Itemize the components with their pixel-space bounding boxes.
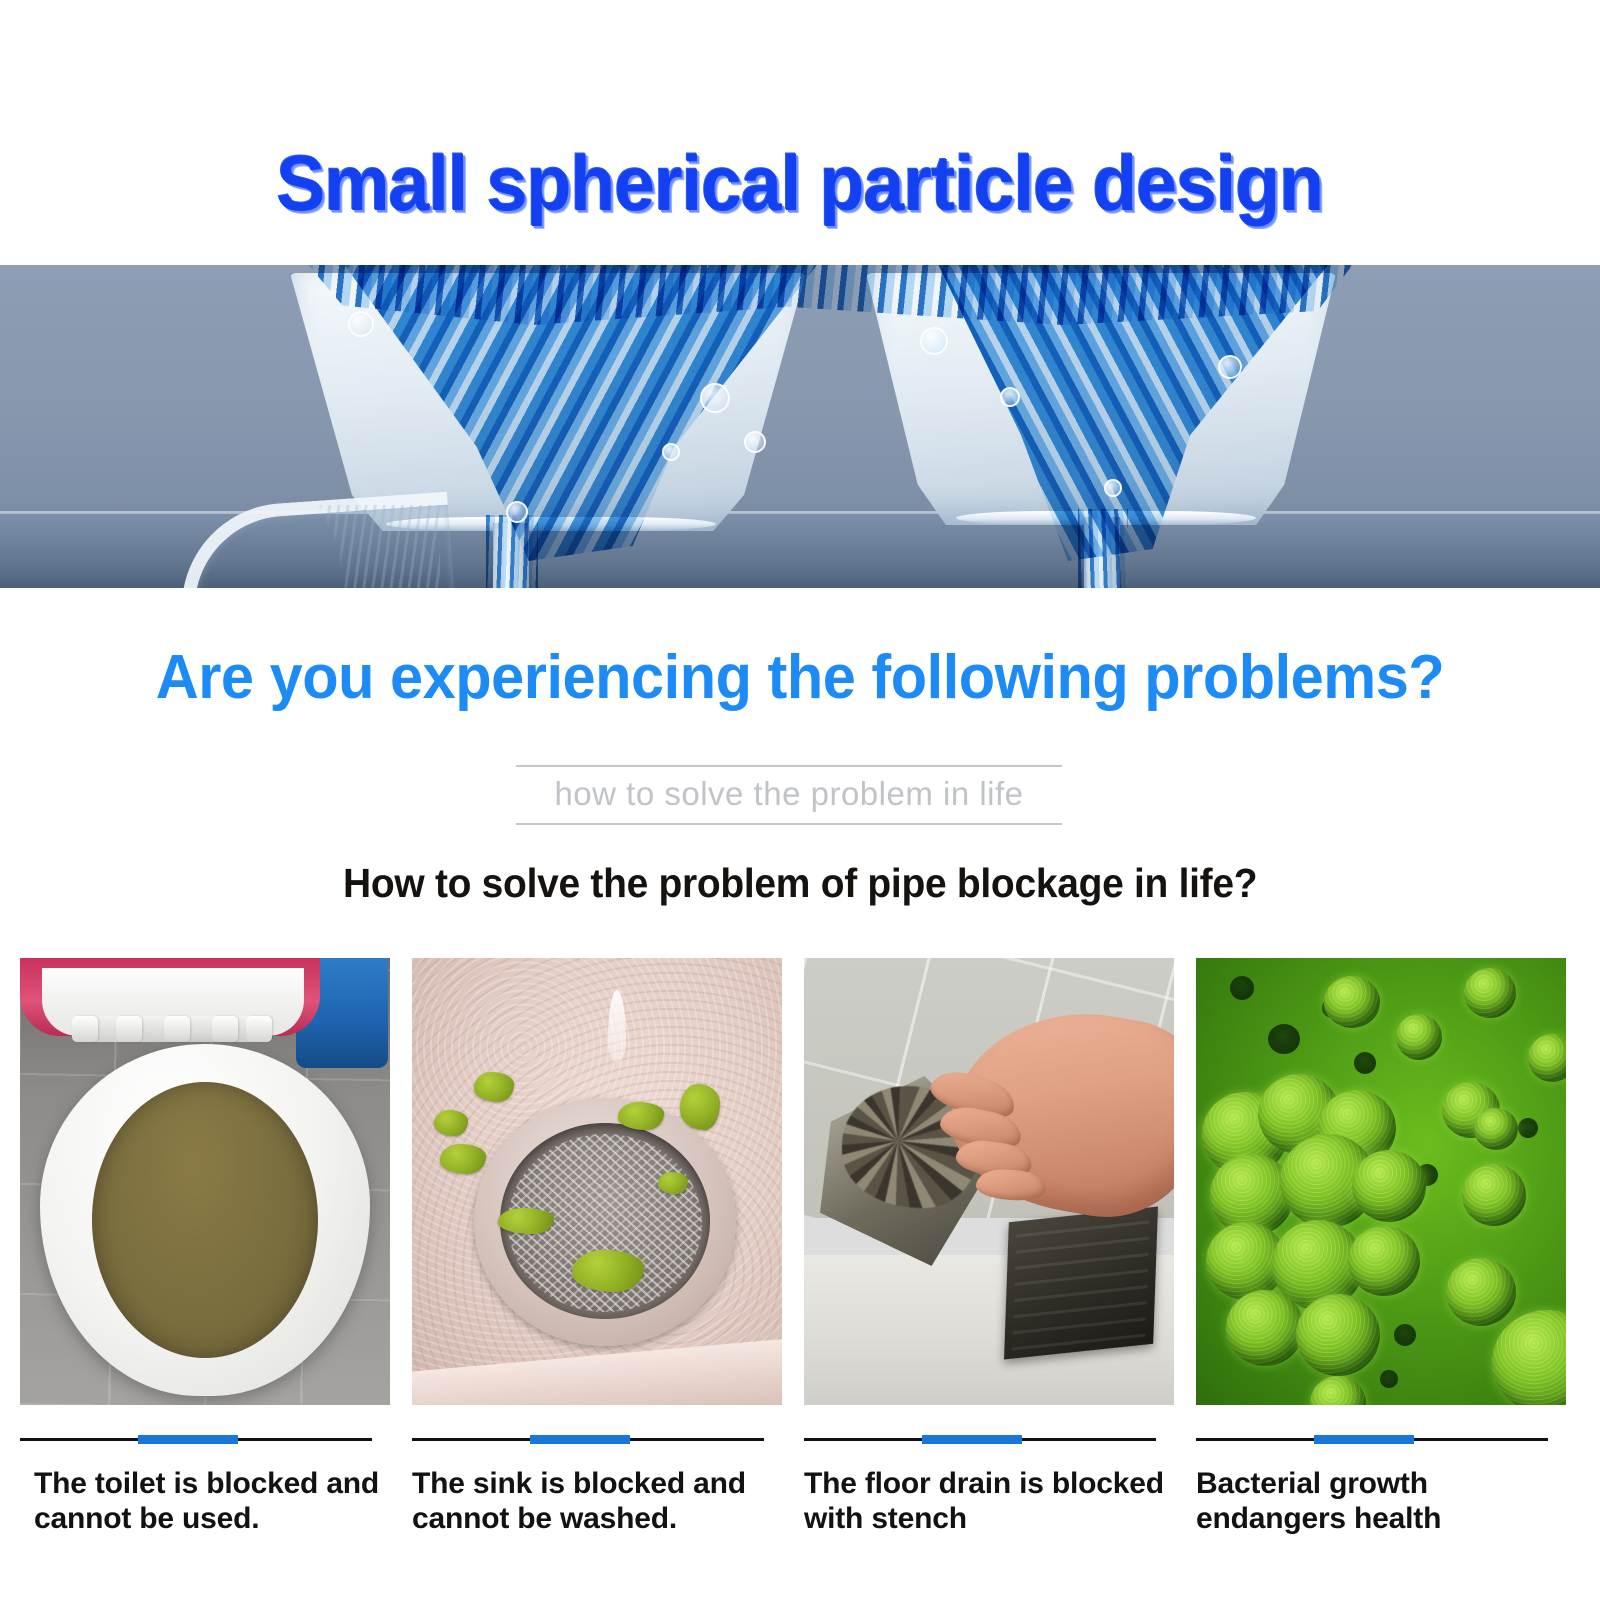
food-scrap [498,1208,554,1234]
bacteria-cell [1464,968,1516,1018]
water-bubble [348,311,374,337]
water-bubble [1000,387,1020,407]
food-scrap [572,1250,644,1292]
surface-pore [1518,1118,1538,1138]
problem-card: The floor drain is blocked with stench [804,958,1174,1537]
bacteria-cell [1474,1108,1518,1150]
food-scrap [680,1084,720,1130]
problem-cards: The toilet is blocked and cannot be used… [20,958,1584,1537]
water-bubble [1104,479,1122,497]
water-bubble [700,383,730,413]
water-bubble [1218,355,1242,379]
problems-heading: Are you experiencing the following probl… [32,645,1568,710]
card-divider [20,1434,372,1444]
grate-slots [1012,1215,1149,1350]
clogged-sink-drain-photo [412,958,782,1405]
clogged-toilet-photo [20,958,390,1405]
bacteria-microscope-photo [1196,958,1566,1405]
water-bubble [662,443,680,461]
problem-card: The sink is blocked and cannot be washed… [412,958,782,1537]
bacteria-cell-cluster [1226,1290,1304,1366]
bacteria-cell-cluster [1348,1226,1420,1296]
food-scrap [434,1110,468,1136]
card-divider [412,1434,764,1444]
water-bubble [506,501,528,523]
problems-subtitle: how to solve the problem in life [554,775,1023,812]
surface-pore [1380,1370,1398,1388]
bacteria-cell-cluster [1296,1294,1380,1376]
problems-heading-wrap: Are you experiencing the following probl… [0,645,1600,710]
divider-accent [922,1435,1022,1444]
toilet-bowl [40,1044,370,1396]
card-divider [1196,1434,1548,1444]
card-caption: The toilet is blocked and cannot be used… [34,1466,390,1537]
card-divider [804,1434,1156,1444]
pipe-blockage-question: How to solve the problem of pipe blockag… [343,860,1257,907]
food-scrap [440,1144,486,1174]
card-caption: Bacterial growth endangers health [1196,1466,1566,1537]
drain-grate-cover [1004,1207,1158,1360]
drain-pipe-left [493,523,529,588]
toilet-seat-hinge [72,1016,272,1042]
page-title: Small spherical particle design [277,144,1324,222]
bacteria-cell-cluster [1352,1150,1426,1222]
divider-accent [138,1435,238,1444]
card-caption: The floor drain is blocked with stench [804,1466,1174,1537]
food-scrap [618,1102,664,1130]
surface-pore [1230,976,1254,1000]
pipe-blockage-question-wrap: How to solve the problem of pipe blockag… [0,860,1600,907]
bacteria-cell [1396,1014,1442,1060]
hero-sink-water-image [0,265,1600,588]
drain-pipe-right [1084,517,1120,588]
clogged-floor-drain-photo [804,958,1174,1405]
surface-pore [1268,1024,1300,1054]
bacteria-cell [1462,1164,1526,1226]
problem-card: The toilet is blocked and cannot be used… [20,958,390,1537]
card-caption: The sink is blocked and cannot be washed… [412,1466,782,1537]
divider-accent [530,1435,630,1444]
problem-card: Bacterial growth endangers health [1196,958,1566,1537]
hero-wall [0,265,1600,513]
surface-pore [1394,1324,1416,1346]
bacteria-cell [1324,976,1380,1028]
food-scrap [658,1172,688,1194]
problems-subtitle-rule: how to solve the problem in life [516,765,1062,825]
water-bubble [920,327,948,355]
food-scrap [474,1072,514,1102]
surface-pore [1354,1052,1376,1074]
product-detail-page: Small spherical particle design Are you … [0,0,1600,1600]
water-bubble [744,431,766,453]
divider-accent [1314,1435,1414,1444]
title-banner: Small spherical particle design [0,118,1600,248]
sink-basin-right [866,273,1336,525]
bacteria-cell [1446,1258,1516,1326]
